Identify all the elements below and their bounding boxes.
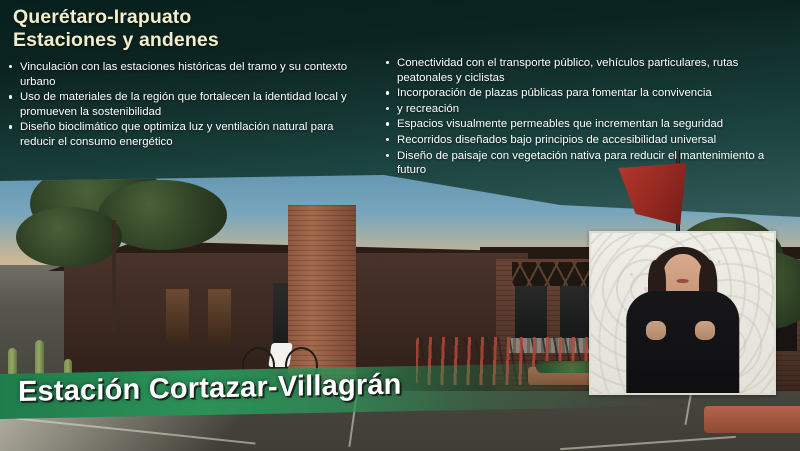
bullet-text: Conectividad con el transporte público, … xyxy=(397,57,738,84)
bullet-dot-icon xyxy=(386,61,389,64)
list-item: Espacios visualmente permeables que incr… xyxy=(383,117,773,132)
list-item: y recreación xyxy=(383,102,773,117)
bullet-dot-icon xyxy=(9,125,12,128)
list-item: Recorridos diseñados bajo principios de … xyxy=(383,133,773,148)
bullet-text: Incorporación de plazas públicas para fo… xyxy=(397,87,712,99)
slide-title-line1: Querétaro-Irapuato xyxy=(13,6,219,29)
list-item: Diseño bioclimático que optimiza luz y v… xyxy=(6,120,351,149)
bullet-text: Diseño bioclimático que optimiza luz y v… xyxy=(20,121,333,148)
bullet-dot-icon xyxy=(9,65,12,68)
bullet-text: y recreación xyxy=(397,103,459,115)
bullet-list-left: Vinculación con las estaciones histórica… xyxy=(6,60,351,150)
bullet-text: Vinculación con las estaciones histórica… xyxy=(20,61,347,88)
list-item: Diseño de paisaje con vegetación nativa … xyxy=(383,149,773,178)
bullet-text: Uso de materiales de la región que forta… xyxy=(20,91,347,118)
list-item: Vinculación con las estaciones histórica… xyxy=(6,60,351,89)
bullet-dot-icon xyxy=(386,107,389,110)
list-item: Uso de materiales de la región que forta… xyxy=(6,90,351,119)
bullet-list-right: Conectividad con el transporte público, … xyxy=(383,56,773,178)
bullet-dot-icon xyxy=(386,91,389,94)
bullet-text: Espacios visualmente permeables que incr… xyxy=(397,118,723,130)
bullet-dot-icon xyxy=(386,154,389,157)
bullet-column-right: Conectividad con el transporte público, … xyxy=(383,56,773,179)
bullet-text: Diseño de paisaje con vegetación nativa … xyxy=(397,150,764,177)
render-tree-left xyxy=(16,163,256,331)
bullet-dot-icon xyxy=(386,138,389,141)
interpreter-torso xyxy=(626,291,739,395)
interpreter-hand-left xyxy=(646,321,666,340)
sign-language-interpreter-inset xyxy=(589,231,776,395)
bullet-column-left: Vinculación con las estaciones histórica… xyxy=(6,60,351,151)
list-item: Incorporación de plazas públicas para fo… xyxy=(383,86,773,101)
bullet-dot-icon xyxy=(9,95,12,98)
bullet-text: Recorridos diseñados bajo principios de … xyxy=(397,134,716,146)
bullet-dot-icon xyxy=(386,122,389,125)
slide-title: Querétaro-Irapuato Estaciones y andenes xyxy=(13,6,219,53)
interpreter-mouth xyxy=(676,279,689,283)
slide-canvas: Querétaro-Irapuato Estaciones y andenes … xyxy=(0,0,800,451)
interpreter-hand-right xyxy=(695,321,715,340)
slide-title-line2: Estaciones y andenes xyxy=(13,29,219,52)
list-item: Conectividad con el transporte público, … xyxy=(383,56,773,85)
render-planter-right xyxy=(704,406,800,433)
